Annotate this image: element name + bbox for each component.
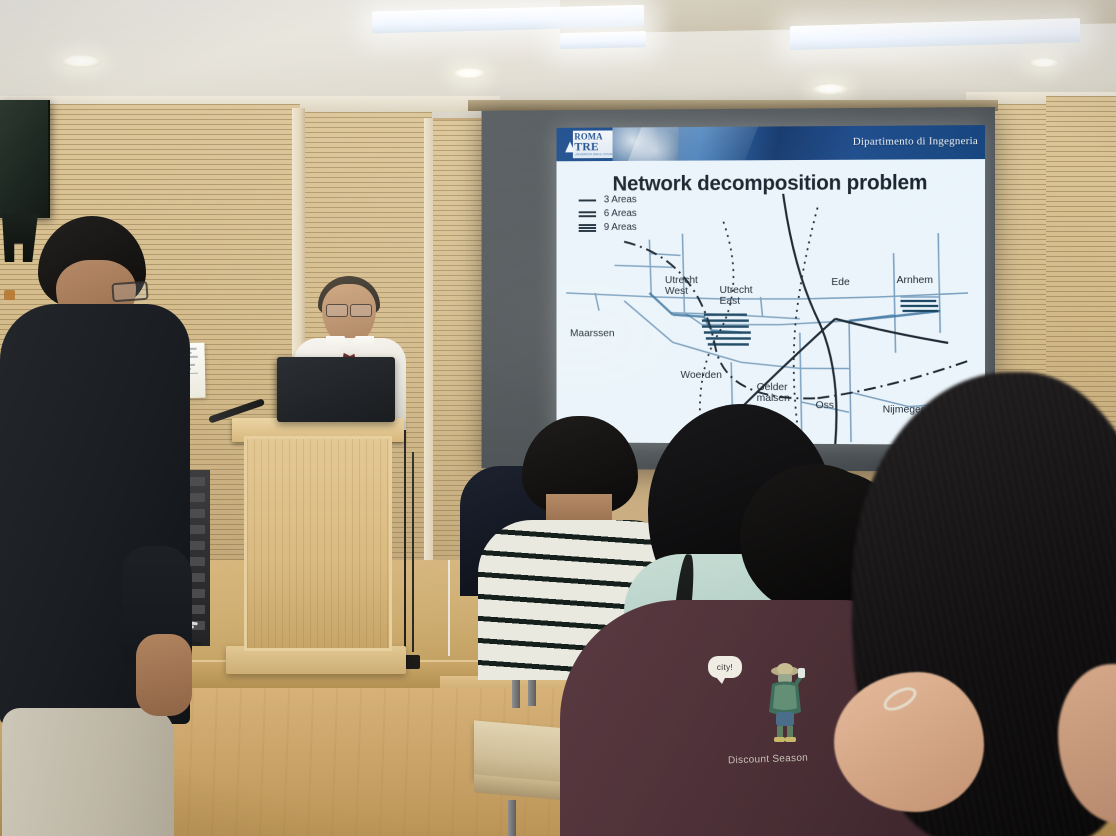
- legend-item-9-areas: 9 Areas: [578, 222, 637, 233]
- map-label-ede: Ede: [831, 277, 849, 288]
- presenter-glasses-left-lens-icon: [326, 304, 348, 317]
- ceiling-led-panel-3: [560, 31, 646, 49]
- slide-header: ROMA TRE UNIVERSITA DEGLI STUDI Dipartim…: [557, 125, 986, 161]
- ceiling-downlight-1: [60, 55, 102, 68]
- legend-key-double-line-icon: [578, 208, 599, 219]
- tshirt-character-icon: [762, 660, 808, 744]
- podium-cable-2: [412, 452, 414, 652]
- presentation-slide: ROMA TRE UNIVERSITA DEGLI STUDI Dipartim…: [557, 125, 986, 445]
- standing-man-trousers: [2, 708, 174, 836]
- map-label-arnhem: Arnhem: [897, 275, 933, 286]
- roma-tre-arch-icon: [562, 131, 572, 159]
- roma-tre-logo: ROMA TRE UNIVERSITA DEGLI STUDI: [562, 130, 612, 158]
- wall-pillar-right: [424, 118, 433, 568]
- legend-item-3-areas: 3 Areas: [578, 194, 637, 205]
- map-label-utrecht-west: Utrecht West: [665, 275, 698, 297]
- podium-cable-3: [448, 560, 450, 656]
- podium-cable-1: [404, 420, 406, 652]
- map-label-utrecht-west-line2: West: [665, 285, 688, 297]
- standing-man-left: [0, 216, 190, 836]
- legend-key-triple-line-icon: [578, 222, 599, 233]
- ceiling-downlight-2: [452, 68, 486, 79]
- ceiling-downlight-4: [1028, 58, 1060, 68]
- podium-monitor-front: [277, 357, 395, 422]
- podium-body-front: [244, 436, 392, 651]
- standing-man-arm: [136, 634, 192, 716]
- map-label-maarssen: Maarssen: [570, 328, 615, 339]
- map-label-woerden: Woerden: [680, 370, 721, 381]
- desk-row-2-leg: [508, 800, 516, 836]
- tshirt-speech-bubble-text: city!: [708, 656, 742, 678]
- slide-header-image: [613, 127, 679, 161]
- map-label-nijmegen: Nijmegen: [883, 404, 927, 415]
- ceiling-downlight-3: [812, 84, 848, 95]
- logo-subline: UNIVERSITA DEGLI STUDI: [574, 152, 612, 156]
- map-label-geldermalsen-line2: malsen: [757, 392, 790, 404]
- map-label-utrecht-east: Utrecht East: [719, 285, 752, 307]
- legend-label-3-areas: 3 Areas: [604, 194, 637, 205]
- legend-key-solid-line-icon: [578, 195, 599, 206]
- legend-item-6-areas: 6 Areas: [578, 208, 637, 219]
- tshirt-speech-bubble-icon: city!: [708, 656, 742, 678]
- wall-panel-far-right: [1046, 96, 1116, 496]
- wall-speaker: [0, 100, 50, 218]
- map-legend: 3 Areas 6 Areas 9 Areas: [578, 194, 637, 236]
- legend-label-9-areas: 9 Areas: [604, 222, 637, 233]
- legend-label-6-areas: 6 Areas: [604, 208, 637, 219]
- map-label-geldermalsen: Gelder malsen: [757, 382, 790, 404]
- logo-line-2: TRE: [574, 141, 612, 152]
- maroon-tee-attendee-head: [740, 464, 890, 614]
- slide-department-label: Dipartimento di Ingegneria: [853, 135, 978, 148]
- lecture-hall-photo: ROMA TRE UNIVERSITA DEGLI STUDI Dipartim…: [0, 0, 1116, 836]
- standing-man-glasses-icon: [111, 281, 148, 302]
- map-label-utrecht-east-line2: East: [719, 295, 740, 307]
- audience-member-maroon-tee: city! Discount Season: [560, 560, 990, 836]
- presenter-glasses-right-lens-icon: [350, 304, 372, 317]
